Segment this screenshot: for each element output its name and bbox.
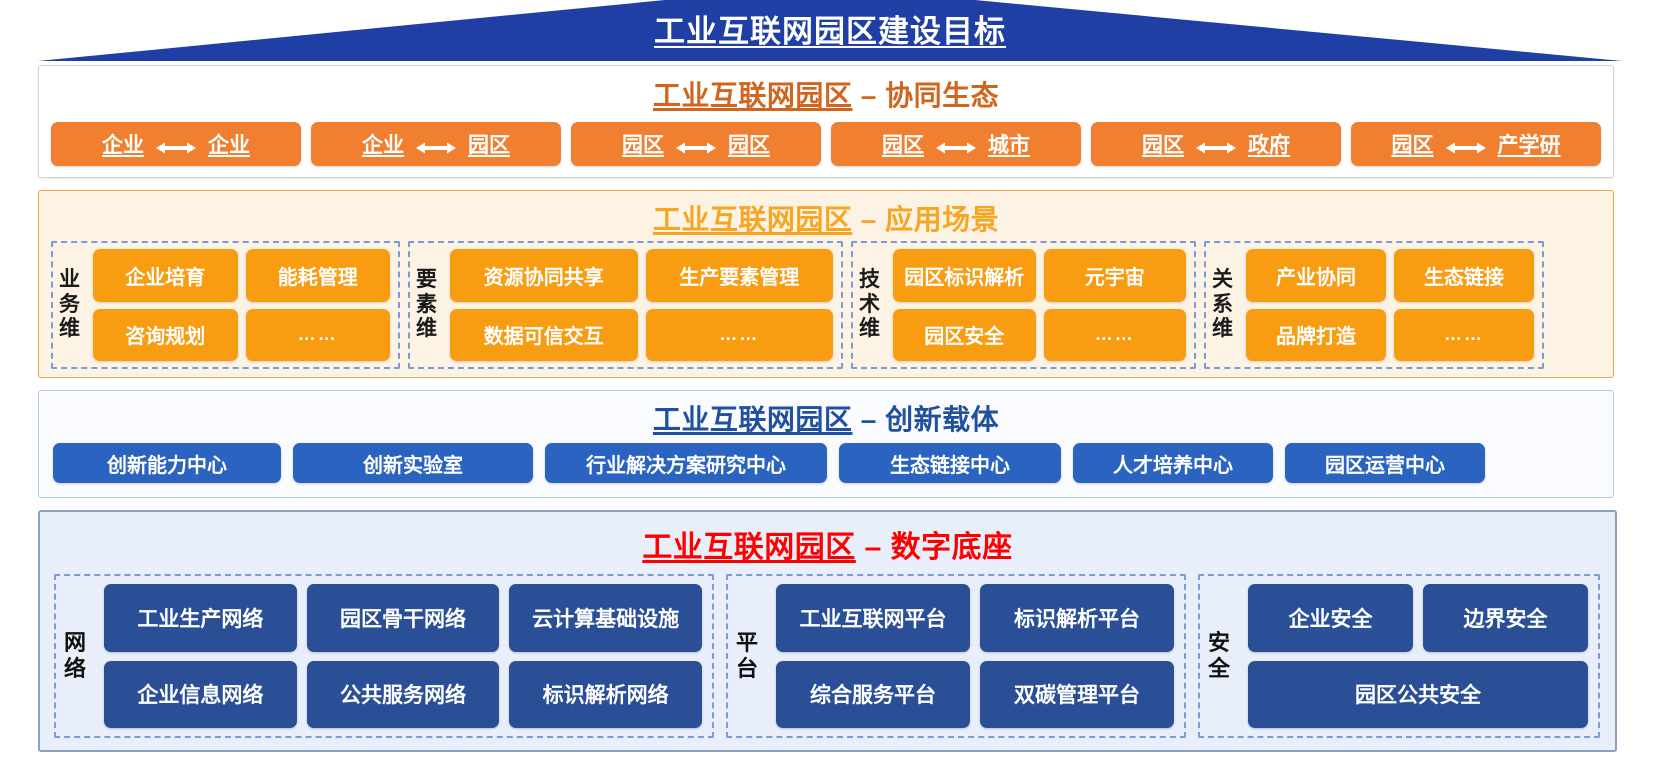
layer-application-scenarios: 工业互联网园区 – 应用场景 业务维 企业培育 能耗管理 咨询规划 …… 要素维… xyxy=(38,190,1614,378)
double-arrow-icon xyxy=(936,137,976,151)
carrier-chip-innovation-capability-center[interactable]: 创新能力中心 xyxy=(53,443,281,483)
app-chip-more[interactable]: …… xyxy=(1394,309,1534,362)
app-chip[interactable]: 园区标识解析 xyxy=(893,249,1036,302)
app-group-cells: 园区标识解析 元宇宙 园区安全 …… xyxy=(893,249,1186,361)
carrier-chip-innovation-lab[interactable]: 创新实验室 xyxy=(293,443,533,483)
eco-pair-left-label: 企业 xyxy=(362,129,404,159)
app-chip[interactable]: 品牌打造 xyxy=(1246,309,1386,362)
base-group-network: 网络 工业生产网络 园区骨干网络 云计算基础设施 企业信息网络 公共服务网络 标… xyxy=(54,574,714,738)
app-chip-more[interactable]: …… xyxy=(646,309,834,362)
carrier-chip-talent-training-center[interactable]: 人才培养中心 xyxy=(1073,443,1273,483)
app-group-cells: 产业协同 生态链接 品牌打造 …… xyxy=(1246,249,1534,361)
base-group-row: 企业信息网络 公共服务网络 标识解析网络 xyxy=(104,661,702,729)
double-arrow-icon xyxy=(676,137,716,151)
eco-pair-right-label: 园区 xyxy=(468,129,510,159)
roof-title: 工业互联网园区建设目标 xyxy=(0,6,1660,51)
base-chip[interactable]: 标识解析网络 xyxy=(509,661,702,729)
app-chip[interactable]: 咨询规划 xyxy=(93,309,238,362)
app-chip-more[interactable]: …… xyxy=(1044,309,1187,362)
carrier-chip-park-operation-center[interactable]: 园区运营中心 xyxy=(1285,443,1485,483)
eco-chip-row: 企业 企业 企业 园区 园区 园区 园区 xyxy=(51,122,1601,166)
eco-pair-park-city[interactable]: 园区 城市 xyxy=(831,122,1081,166)
app-chip[interactable]: 资源协同共享 xyxy=(450,249,638,302)
app-group-cells: 企业培育 能耗管理 咨询规划 …… xyxy=(93,249,390,361)
layer-collaborative-ecosystem: 工业互联网园区 – 协同生态 企业 企业 企业 园区 园区 xyxy=(38,65,1614,178)
app-group-label: 业务维 xyxy=(59,249,85,361)
base-groups-row: 网络 工业生产网络 园区骨干网络 云计算基础设施 企业信息网络 公共服务网络 标… xyxy=(54,574,1601,738)
eco-pair-enterprise-park[interactable]: 企业 园区 xyxy=(311,122,561,166)
app-group-element-dimension: 要素维 资源协同共享 生产要素管理 数据可信交互 …… xyxy=(408,241,843,369)
app-chip[interactable]: 数据可信交互 xyxy=(450,309,638,362)
double-arrow-icon xyxy=(156,137,196,151)
app-group-technology-dimension: 技术维 园区标识解析 元宇宙 园区安全 …… xyxy=(851,241,1196,369)
base-chip[interactable]: 企业信息网络 xyxy=(104,661,297,729)
app-chip[interactable]: 元宇宙 xyxy=(1044,249,1187,302)
app-chip[interactable]: 产业协同 xyxy=(1246,249,1386,302)
base-group-platform: 平台 工业互联网平台 标识解析平台 综合服务平台 双碳管理平台 xyxy=(726,574,1186,738)
base-group-cells: 工业互联网平台 标识解析平台 综合服务平台 双碳管理平台 xyxy=(776,584,1174,728)
eco-pair-right-label: 园区 xyxy=(728,129,770,159)
app-group-business-dimension: 业务维 企业培育 能耗管理 咨询规划 …… xyxy=(51,241,400,369)
eco-pair-left-label: 园区 xyxy=(1142,129,1184,159)
base-chip[interactable]: 工业互联网平台 xyxy=(776,584,970,652)
eco-pair-left-label: 企业 xyxy=(102,129,144,159)
base-chip[interactable]: 标识解析平台 xyxy=(980,584,1174,652)
roof-banner: 工业互联网园区建设目标 xyxy=(0,0,1660,62)
base-chip[interactable]: 云计算基础设施 xyxy=(509,584,702,652)
app-group-cells: 资源协同共享 生产要素管理 数据可信交互 …… xyxy=(450,249,833,361)
app-groups-row: 业务维 企业培育 能耗管理 咨询规划 …… 要素维 资源协同共享 生产要素管理 … xyxy=(51,241,1601,369)
carrier-chip-ecosystem-link-center[interactable]: 生态链接中心 xyxy=(839,443,1061,483)
base-chip[interactable]: 企业安全 xyxy=(1248,584,1413,652)
app-chip[interactable]: 能耗管理 xyxy=(246,249,391,302)
base-chip[interactable]: 园区骨干网络 xyxy=(307,584,500,652)
base-title-main: 工业互联网园区 xyxy=(642,531,856,564)
carrier-chip-row: 创新能力中心 创新实验室 行业解决方案研究中心 生态链接中心 人才培养中心 园区… xyxy=(53,443,1599,483)
base-group-cells: 工业生产网络 园区骨干网络 云计算基础设施 企业信息网络 公共服务网络 标识解析… xyxy=(104,584,702,728)
eco-title-rest: – 协同生态 xyxy=(852,80,999,111)
base-group-label: 安全 xyxy=(1208,584,1238,728)
eco-pair-park-academia[interactable]: 园区 产学研 xyxy=(1351,122,1601,166)
base-group-label: 平台 xyxy=(736,584,766,728)
app-chip-more[interactable]: …… xyxy=(246,309,391,362)
base-group-cells: 企业安全 边界安全 园区公共安全 xyxy=(1248,584,1588,728)
app-group-label: 关系维 xyxy=(1212,249,1238,361)
eco-pair-left-label: 园区 xyxy=(1392,129,1434,159)
app-chip[interactable]: 企业培育 xyxy=(93,249,238,302)
base-group-security: 安全 企业安全 边界安全 园区公共安全 xyxy=(1198,574,1600,738)
base-chip[interactable]: 双碳管理平台 xyxy=(980,661,1174,729)
eco-pair-park-park[interactable]: 园区 园区 xyxy=(571,122,821,166)
app-title-main: 工业互联网园区 xyxy=(653,204,853,235)
app-group-relationship-dimension: 关系维 产业协同 生态链接 品牌打造 …… xyxy=(1204,241,1544,369)
app-chip[interactable]: 生态链接 xyxy=(1394,249,1534,302)
base-title-rest: – 数字底座 xyxy=(856,531,1013,564)
eco-pair-enterprise-enterprise[interactable]: 企业 企业 xyxy=(51,122,301,166)
carrier-title-main: 工业互联网园区 xyxy=(653,404,853,435)
base-group-label: 网络 xyxy=(64,584,94,728)
base-chip[interactable]: 园区公共安全 xyxy=(1248,661,1588,729)
base-chip[interactable]: 综合服务平台 xyxy=(776,661,970,729)
app-title: 工业互联网园区 – 应用场景 xyxy=(39,198,1613,238)
carrier-chip-industry-solution-research-center[interactable]: 行业解决方案研究中心 xyxy=(545,443,827,483)
eco-title-main: 工业互联网园区 xyxy=(653,80,853,111)
base-group-row: 综合服务平台 双碳管理平台 xyxy=(776,661,1174,729)
base-group-row: 工业生产网络 园区骨干网络 云计算基础设施 xyxy=(104,584,702,652)
app-group-label: 技术维 xyxy=(859,249,885,361)
eco-pair-left-label: 园区 xyxy=(882,129,924,159)
base-group-row: 园区公共安全 xyxy=(1248,661,1588,729)
eco-pair-right-label: 政府 xyxy=(1248,129,1290,159)
app-chip[interactable]: 生产要素管理 xyxy=(646,249,834,302)
app-chip[interactable]: 园区安全 xyxy=(893,309,1036,362)
eco-pair-left-label: 园区 xyxy=(622,129,664,159)
app-title-rest: – 应用场景 xyxy=(852,204,999,235)
eco-title: 工业互联网园区 – 协同生态 xyxy=(39,74,1613,114)
base-chip[interactable]: 工业生产网络 xyxy=(104,584,297,652)
layer-digital-foundation: 工业互联网园区 – 数字底座 网络 工业生产网络 园区骨干网络 云计算基础设施 … xyxy=(38,510,1617,752)
eco-pair-park-government[interactable]: 园区 政府 xyxy=(1091,122,1341,166)
eco-pair-right-label: 产学研 xyxy=(1498,129,1561,159)
base-chip[interactable]: 边界安全 xyxy=(1423,584,1588,652)
base-chip[interactable]: 公共服务网络 xyxy=(307,661,500,729)
base-group-row: 工业互联网平台 标识解析平台 xyxy=(776,584,1174,652)
double-arrow-icon xyxy=(1196,137,1236,151)
layer-innovation-carrier: 工业互联网园区 – 创新载体 创新能力中心 创新实验室 行业解决方案研究中心 生… xyxy=(38,390,1614,498)
double-arrow-icon xyxy=(416,137,456,151)
app-group-label: 要素维 xyxy=(416,249,442,361)
base-group-row: 企业安全 边界安全 xyxy=(1248,584,1588,652)
eco-pair-right-label: 企业 xyxy=(208,129,250,159)
double-arrow-icon xyxy=(1446,137,1486,151)
carrier-title-rest: – 创新载体 xyxy=(852,404,999,435)
carrier-title: 工业互联网园区 – 创新载体 xyxy=(39,398,1613,438)
diagram-canvas: 工业互联网园区建设目标 工业互联网园区 – 协同生态 企业 企业 企业 园区 xyxy=(0,0,1660,762)
eco-pair-right-label: 城市 xyxy=(988,129,1030,159)
base-title: 工业互联网园区 – 数字底座 xyxy=(40,522,1615,566)
